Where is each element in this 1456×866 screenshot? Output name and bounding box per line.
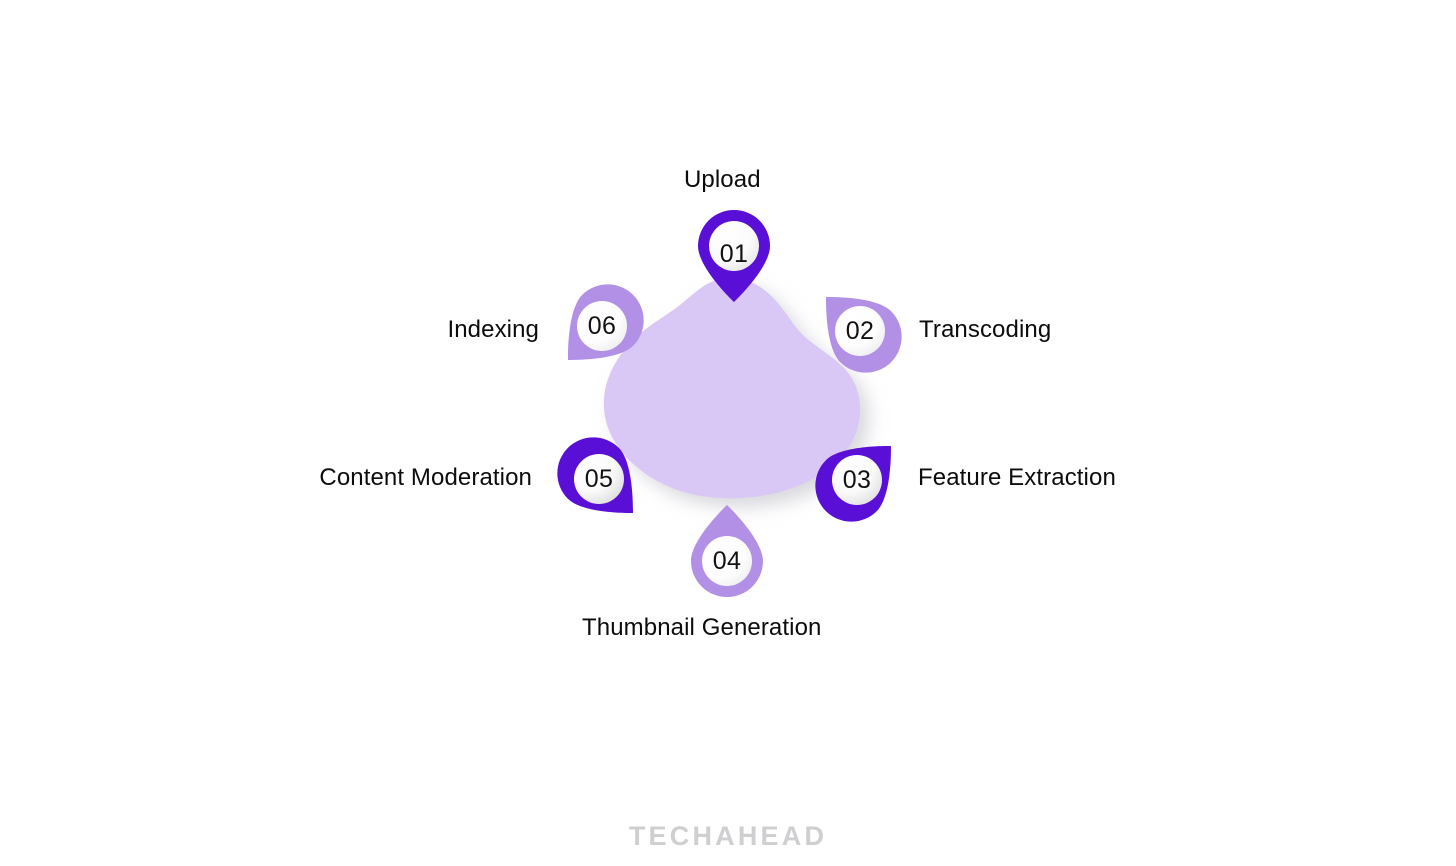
step-marker-02[interactable]: 02 xyxy=(812,283,908,379)
brand-watermark: TECHAHEAD xyxy=(0,821,1456,866)
step-label-feature-extraction: Feature Extraction xyxy=(918,463,1116,493)
map-pin-icon xyxy=(809,432,905,528)
step-marker-06[interactable]: 06 xyxy=(554,278,650,374)
step-label-upload: Upload xyxy=(684,165,761,195)
map-pin-icon xyxy=(812,283,908,379)
step-label-content-moderation: Content Moderation xyxy=(319,463,532,493)
step-label-indexing: Indexing xyxy=(447,315,539,345)
map-pin-icon xyxy=(679,505,775,601)
diagram-canvas: 01 02 xyxy=(0,0,1456,866)
step-label-transcoding: Transcoding xyxy=(919,315,1051,345)
map-pin-icon xyxy=(551,431,647,527)
map-pin-icon xyxy=(686,206,782,302)
map-pin-icon xyxy=(554,278,650,374)
step-marker-01[interactable]: 01 xyxy=(686,206,782,302)
step-marker-04[interactable]: 04 xyxy=(679,505,775,601)
step-label-thumbnail-generation: Thumbnail Generation xyxy=(582,613,821,643)
step-marker-03[interactable]: 03 xyxy=(809,432,905,528)
step-marker-05[interactable]: 05 xyxy=(551,431,647,527)
